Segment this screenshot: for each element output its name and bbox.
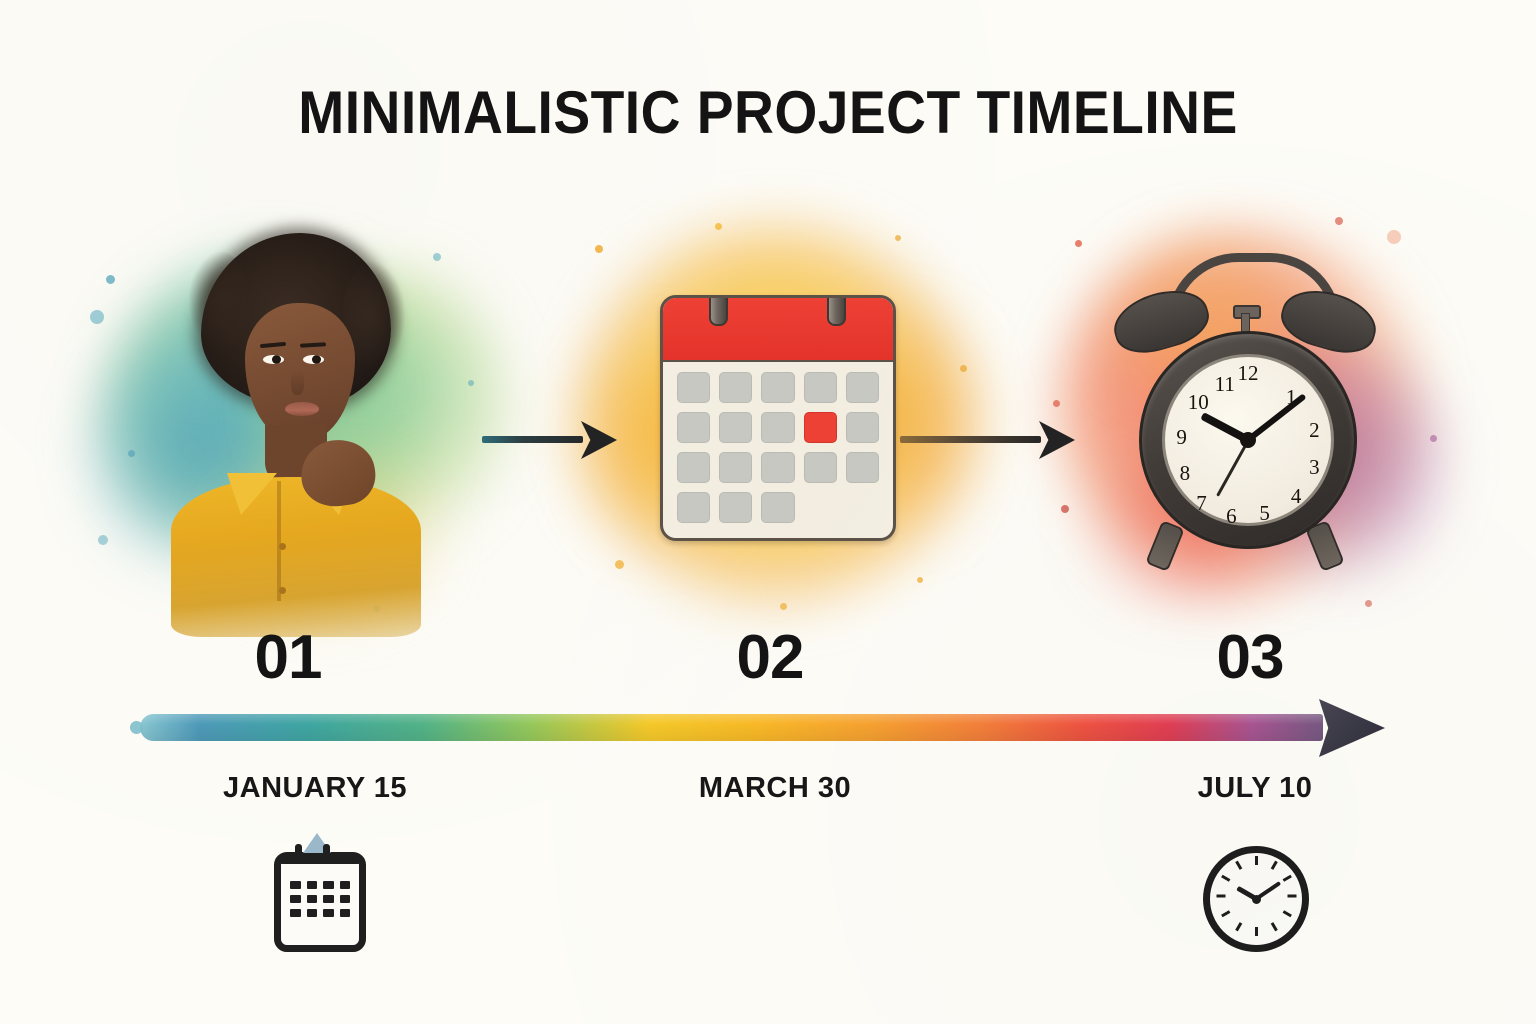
clock-icon-tick xyxy=(1235,861,1242,870)
timeline-arrow-head-icon xyxy=(1319,699,1385,757)
paint-speck xyxy=(895,235,901,241)
clock-numeral-5: 5 xyxy=(1253,501,1277,525)
calendar-icon-cell xyxy=(307,895,318,903)
calendar-day-cell xyxy=(719,452,752,483)
paint-speck xyxy=(1075,240,1082,247)
eyebrow-left xyxy=(260,342,286,348)
calendar-day-cell xyxy=(719,372,752,403)
clock-minute-hand xyxy=(1246,393,1306,442)
calendar-day-cell xyxy=(804,372,837,403)
calendar-icon-cell xyxy=(340,895,351,903)
timeline-gradient-track xyxy=(140,714,1323,741)
calendar-day-cell xyxy=(761,372,794,403)
paint-speck xyxy=(128,450,135,457)
calendar-icon-grid xyxy=(290,881,350,917)
calendar-ring xyxy=(827,295,846,326)
lips xyxy=(285,402,319,416)
arrow-shaft xyxy=(482,436,583,443)
paint-speck xyxy=(468,380,474,386)
alarm-clock-illustration: 12 1 2 3 4 5 6 7 8 9 10 11 xyxy=(1105,247,1385,577)
paint-speck xyxy=(1430,435,1437,442)
calendar-icon-topbar xyxy=(279,855,361,864)
calendar-highlighted-day xyxy=(804,412,837,443)
calendar-icon-cell xyxy=(340,881,351,889)
portrait-illustration xyxy=(153,225,433,625)
milestone-icon-01 xyxy=(258,838,368,948)
calendar-illustration xyxy=(660,295,896,541)
clock-icon-tick xyxy=(1255,927,1258,936)
date-label-03: JULY 10 xyxy=(1105,772,1405,805)
clock-numeral-4: 4 xyxy=(1284,484,1308,508)
calendar-icon-tab xyxy=(323,844,330,858)
timeline-bar xyxy=(140,705,1385,751)
clock-numeral-10: 10 xyxy=(1186,390,1210,414)
calendar-day-cell xyxy=(846,372,879,403)
clock-numeral-3: 3 xyxy=(1302,455,1326,479)
paint-speck xyxy=(1365,600,1372,607)
clock-numeral-9: 9 xyxy=(1170,425,1194,449)
clock-icon-tick xyxy=(1216,895,1225,898)
paint-speck xyxy=(433,253,441,261)
clock-icon-tick xyxy=(1221,910,1230,917)
calendar-day-cell xyxy=(846,412,879,443)
paint-speck xyxy=(595,245,603,253)
step-illustration-01 xyxy=(78,205,498,625)
clock-icon-tick xyxy=(1270,922,1277,931)
calendar-day-cell xyxy=(719,492,752,523)
calendar-header xyxy=(663,298,893,362)
clock-icon-tick xyxy=(1287,895,1296,898)
infographic-canvas: MINIMALISTIC PROJECT TIMELINE xyxy=(0,0,1536,1024)
paint-speck xyxy=(1061,505,1069,513)
calendar-icon-cell xyxy=(290,881,301,889)
face xyxy=(245,303,355,441)
connector-arrow-02-to-03 xyxy=(900,415,1075,465)
calendar-day-cell xyxy=(846,452,879,483)
clock-center-pin xyxy=(1240,432,1256,448)
calendar-icon-tabs xyxy=(291,844,341,856)
eye-left xyxy=(263,355,284,364)
calendar-grid xyxy=(677,372,879,523)
step-illustration-03: 12 1 2 3 4 5 6 7 8 9 10 11 xyxy=(1035,205,1455,625)
step-number-03: 03 xyxy=(1120,622,1380,693)
clock-icon xyxy=(1203,846,1309,952)
calendar-day-cell xyxy=(761,492,794,523)
paint-speck xyxy=(960,365,967,372)
calendar-day-cell xyxy=(677,452,710,483)
clock-numeral-7: 7 xyxy=(1190,491,1214,515)
eye-right xyxy=(303,355,324,364)
clock-icon-tick xyxy=(1235,922,1242,931)
calendar-day-cell xyxy=(677,372,710,403)
step-number-01: 01 xyxy=(158,622,418,693)
clock-numeral-8: 8 xyxy=(1173,461,1197,485)
clock-numeral-11: 11 xyxy=(1213,372,1237,396)
calendar-icon-cell xyxy=(323,895,334,903)
page-title: MINIMALISTIC PROJECT TIMELINE xyxy=(61,78,1474,147)
clock-second-hand xyxy=(1216,439,1250,496)
arrow-head-icon xyxy=(1039,421,1075,459)
arrow-shaft xyxy=(900,436,1041,443)
calendar-icon-cell xyxy=(323,881,334,889)
clock-icon-tick xyxy=(1270,861,1277,870)
calendar-day-cell xyxy=(761,412,794,443)
calendar-ring xyxy=(709,295,728,326)
paint-speck xyxy=(917,577,923,583)
connector-arrow-01-to-02 xyxy=(482,415,617,465)
calendar-empty-cell xyxy=(846,492,879,523)
calendar-day-cell xyxy=(719,412,752,443)
clock-numeral-2: 2 xyxy=(1302,418,1326,442)
calendar-icon-cell xyxy=(290,909,301,917)
paint-speck xyxy=(1053,400,1060,407)
calendar-icon-cell xyxy=(340,909,351,917)
clock-case: 12 1 2 3 4 5 6 7 8 9 10 11 xyxy=(1139,331,1357,549)
paint-speck xyxy=(1387,230,1401,244)
calendar-icon-cell xyxy=(307,909,318,917)
clock-icon-center-pin xyxy=(1252,895,1261,904)
yellow-shirt xyxy=(171,477,421,637)
clock-numeral-12: 12 xyxy=(1236,361,1260,385)
paint-speck xyxy=(1335,217,1343,225)
calendar-day-cell xyxy=(677,412,710,443)
calendar-day-cell xyxy=(677,492,710,523)
paint-speck xyxy=(106,275,115,284)
calendar-day-cell xyxy=(804,452,837,483)
calendar-icon-cell xyxy=(290,895,301,903)
paint-speck xyxy=(90,310,104,324)
clock-numeral-6: 6 xyxy=(1219,504,1243,528)
milestone-icon-03 xyxy=(1195,838,1305,948)
calendar-icon-tab xyxy=(295,844,302,858)
calendar-day-cell xyxy=(761,452,794,483)
shirt-button xyxy=(279,587,286,594)
arrow-head-icon xyxy=(581,421,617,459)
paint-speck xyxy=(715,223,722,230)
calendar-empty-cell xyxy=(804,492,837,523)
nose xyxy=(291,369,304,395)
date-label-02: MARCH 30 xyxy=(625,772,925,805)
clock-foot-left xyxy=(1145,520,1184,572)
clock-icon-tick xyxy=(1255,856,1258,865)
calendar-icon-cell xyxy=(323,909,334,917)
clock-icon-tick xyxy=(1282,875,1291,882)
paint-speck xyxy=(98,535,108,545)
clock-dial: 12 1 2 3 4 5 6 7 8 9 10 11 xyxy=(1162,354,1334,526)
calendar-icon xyxy=(274,852,366,952)
clock-icon-tick xyxy=(1282,910,1291,917)
paint-speck xyxy=(780,603,787,610)
shirt-button xyxy=(279,543,286,550)
eyebrow-right xyxy=(300,342,326,347)
paint-speck xyxy=(615,560,624,569)
calendar-icon-cell xyxy=(307,881,318,889)
step-number-02: 02 xyxy=(640,622,900,693)
date-label-01: JANUARY 15 xyxy=(165,772,465,805)
clock-icon-tick xyxy=(1221,875,1230,882)
